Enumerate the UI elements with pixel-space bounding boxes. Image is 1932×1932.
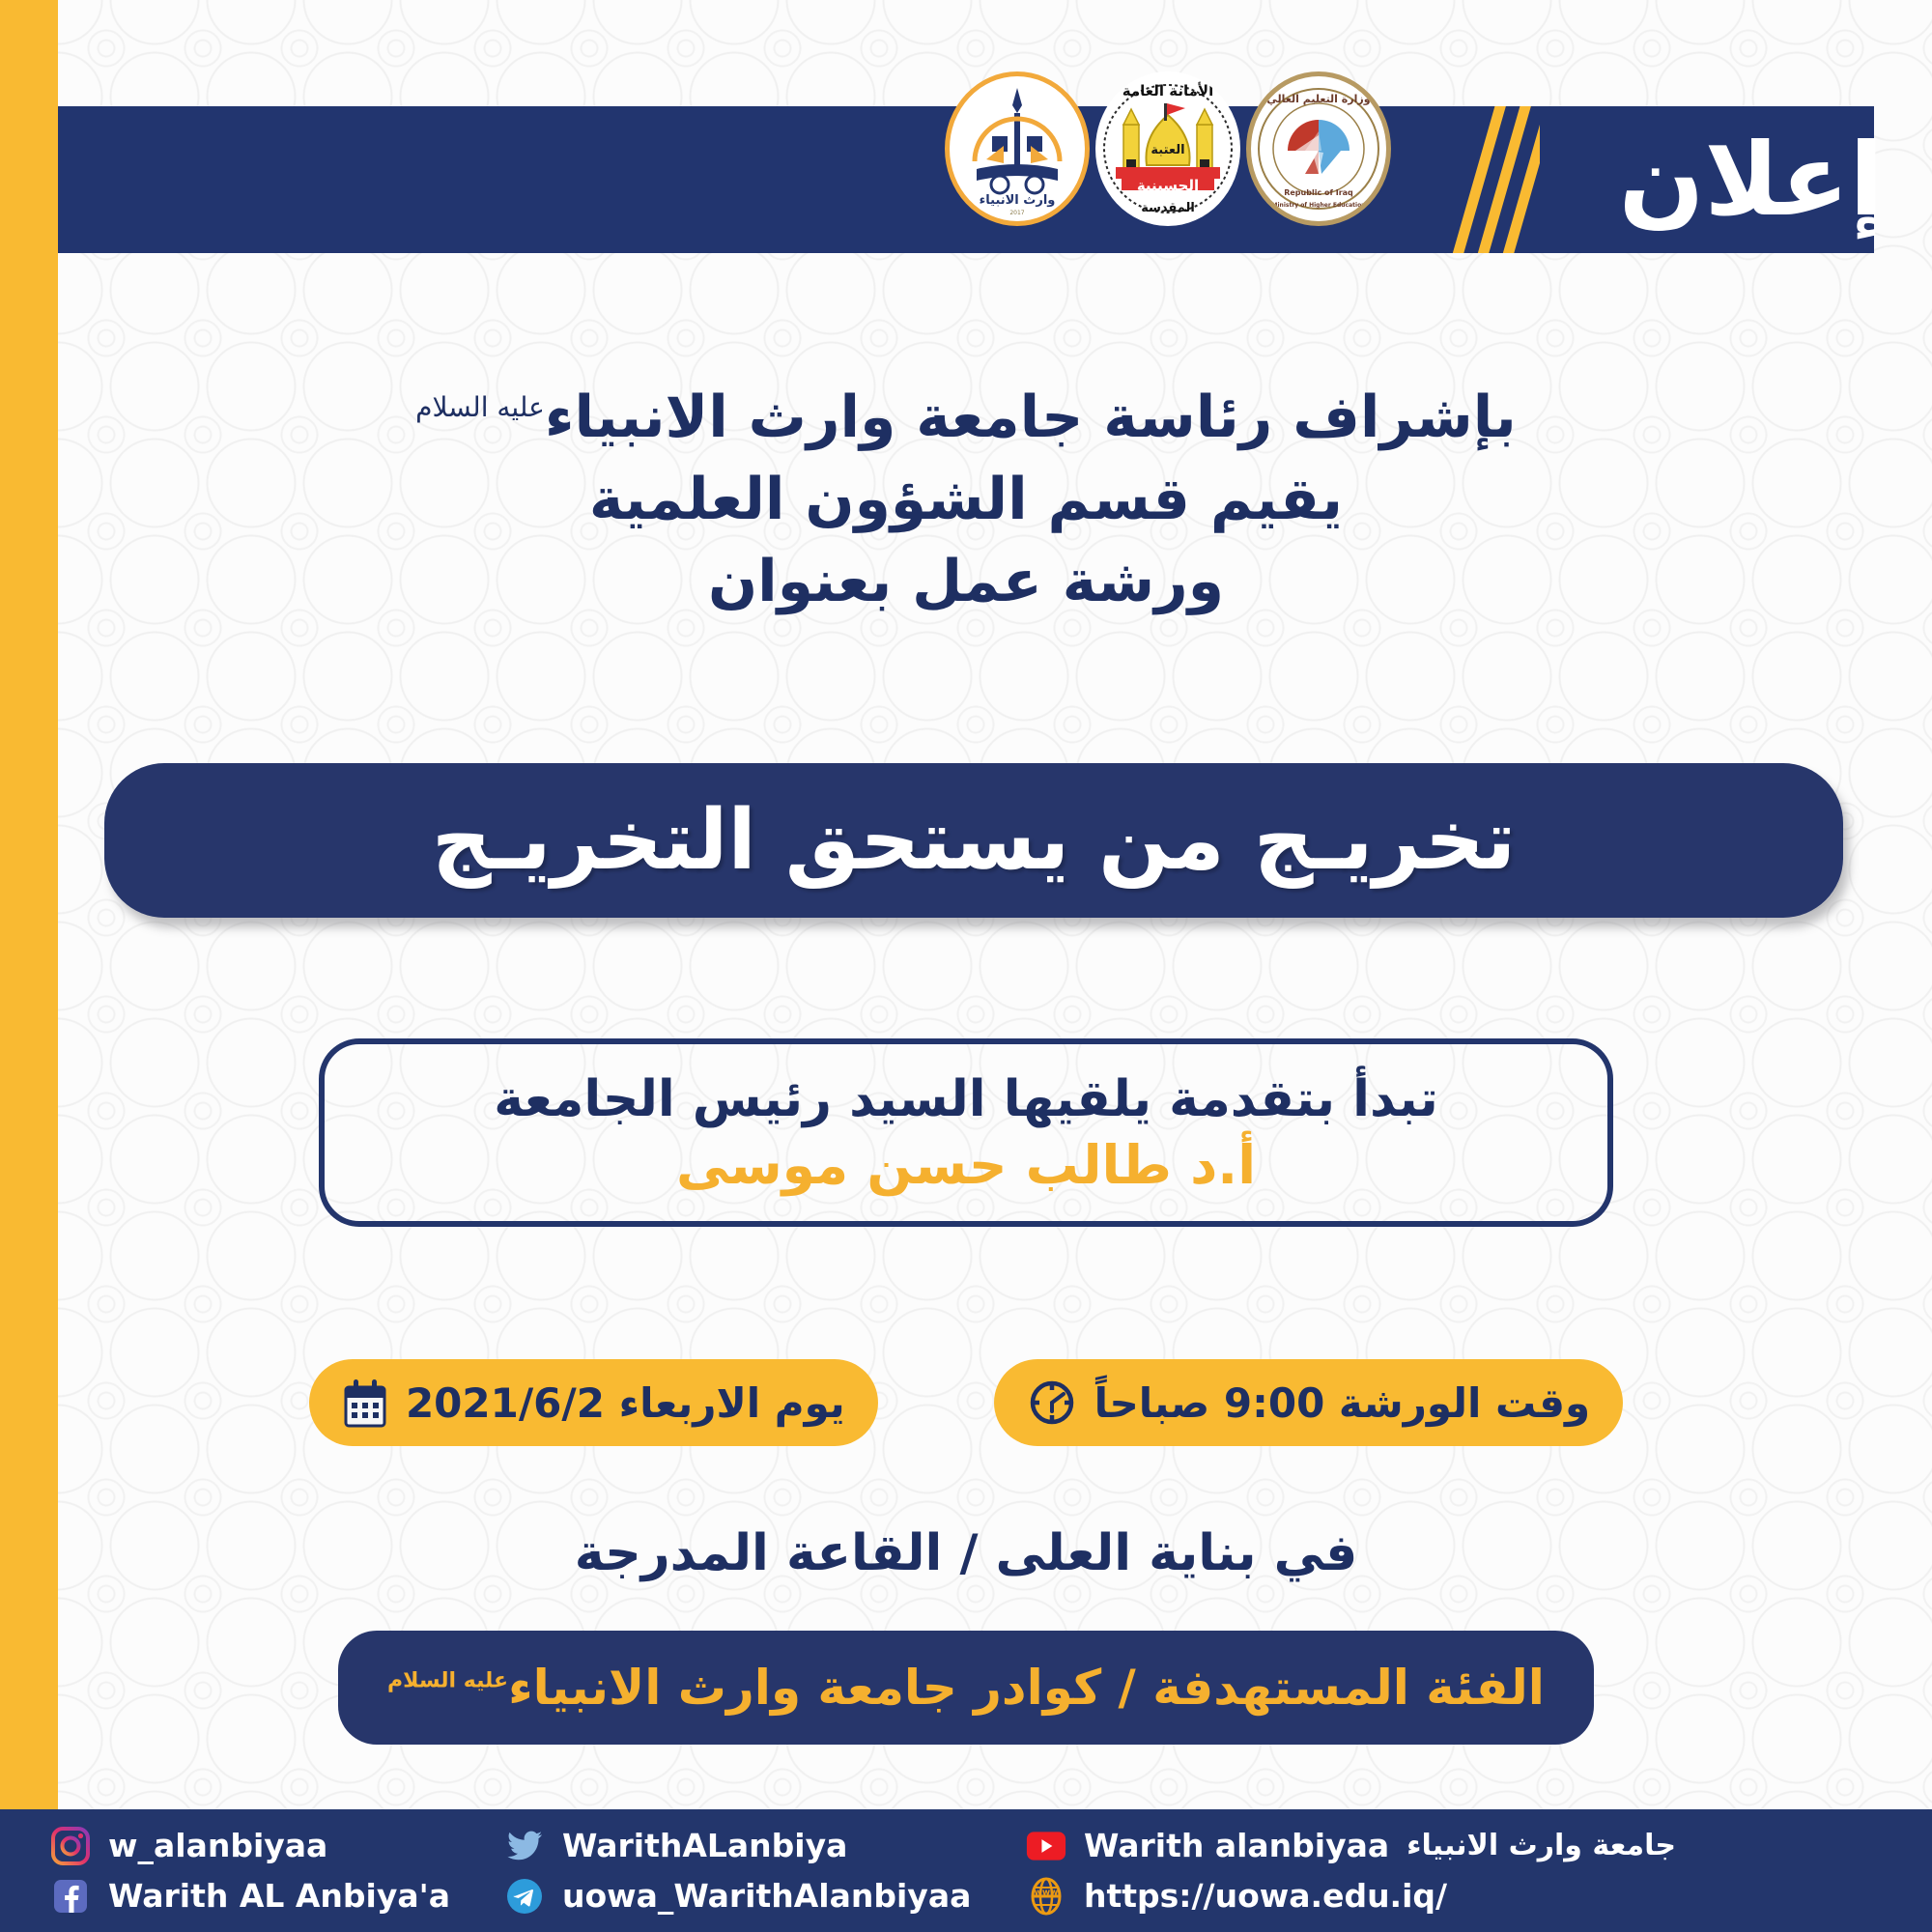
left-gold-accent-strip (0, 0, 58, 1809)
svg-text:www: www (1035, 1888, 1059, 1897)
telegram-row[interactable]: uowa_WarithAlanbiyaa (504, 1876, 1026, 1917)
event-meta-badges: وقت الورشة 9:00 صباحاً يوم الاربعاء 2021… (0, 1356, 1932, 1449)
svg-text:2017: 2017 (1009, 210, 1024, 216)
salutation-honorific: عليه السلام (415, 391, 545, 423)
website-url: https://uowa.edu.iq/ (1084, 1877, 1447, 1915)
twitter-handle: WarithALanbiya (562, 1827, 847, 1864)
telegram-icon (504, 1876, 545, 1917)
announcement-label: إعلان (1619, 129, 1884, 230)
footer-column-1: w_alanbiyaa Warith AL Anbiya'a (50, 1809, 504, 1932)
twitter-row[interactable]: WarithALanbiya (504, 1826, 1026, 1866)
date-badge: يوم الاربعاء 2021/6/2 (309, 1359, 878, 1446)
website-row[interactable]: www https://uowa.edu.iq/ (1026, 1876, 1676, 1917)
audience-honorific: عليه السلام (387, 1668, 508, 1692)
twitter-icon (504, 1826, 545, 1866)
youtube-handle: Warith alanbiyaa (1084, 1827, 1389, 1864)
speaker-info-box: تبدأ بتقدمة يلقيها السيد رئيس الجامعة أ.… (319, 1038, 1613, 1227)
svg-text:وارث الانبياء: وارث الانبياء (980, 193, 1056, 208)
workshop-title: تخريـج من يستحق التخريـج (432, 792, 1516, 889)
facebook-icon (50, 1876, 91, 1917)
page-title: إعلان (1575, 108, 1884, 251)
intro-line-3: ورشة عمل بعنوان (58, 541, 1874, 623)
intro-line-2: يقيم قسم الشؤون العلمية (58, 459, 1874, 541)
time-badge: وقت الورشة 9:00 صباحاً (994, 1359, 1623, 1446)
university-of-warith-alanbiyaa-logo: وارث الانبياء 2017 (945, 71, 1090, 226)
svg-text:العتبة: العتبة (1151, 143, 1184, 157)
ministry-of-higher-education-iraq-logo: وزارة التعليم العالي Republic of Iraq Mi… (1246, 71, 1391, 226)
facebook-handle: Warith AL Anbiya'a (108, 1877, 450, 1915)
date-badge-text: يوم الاربعاء 2021/6/2 (406, 1379, 845, 1427)
footer-column-3: Warith alanbiyaa جامعة وارث الانبياء www… (1026, 1809, 1676, 1932)
instagram-handle: w_alanbiyaa (108, 1827, 327, 1864)
svg-text:الحسينية: الحسينية (1137, 177, 1199, 194)
venue-text: في بناية العلى / القاعة المدرجة (58, 1524, 1874, 1582)
diagonal-gold-stripes (1434, 106, 1540, 253)
speaker-intro-text: تبدأ بتقدمة يلقيها السيد رئيس الجامعة (494, 1070, 1438, 1128)
target-audience-banner: الفئة المستهدفة / كوادر جامعة وارث الانب… (338, 1631, 1594, 1745)
intro-line-1-text: بإشراف رئاسة جامعة وارث الانبياء (545, 384, 1517, 451)
intro-text-block: بإشراف رئاسة جامعة وارث الانبياءعليه الس… (58, 377, 1874, 624)
telegram-handle: uowa_WarithAlanbiyaa (562, 1877, 971, 1915)
target-audience-text: الفئة المستهدفة / كوادر جامعة وارث الانب… (387, 1660, 1545, 1716)
announcement-poster: إعلان وارث الانبياء 2017 (0, 0, 1932, 1932)
youtube-handle-arabic: جامعة وارث الانبياء (1406, 1829, 1676, 1862)
youtube-row[interactable]: Warith alanbiyaa جامعة وارث الانبياء (1026, 1826, 1676, 1866)
svg-text:Republic of Iraq: Republic of Iraq (1284, 188, 1353, 197)
youtube-icon (1026, 1826, 1066, 1866)
al-ataba-al-husseiniya-logo: الأمانة العامة العتبة الحسينية المقدسة (1095, 71, 1240, 226)
workshop-title-banner: تخريـج من يستحق التخريـج (104, 763, 1843, 918)
clock-icon (1027, 1378, 1077, 1428)
speaker-name: أ.د طالب حسن موسى (676, 1134, 1256, 1196)
footer-column-2: WarithALanbiya uowa_WarithAlanbiyaa (504, 1809, 1026, 1932)
svg-text:المقدسة: المقدسة (1141, 201, 1195, 215)
instagram-icon (50, 1826, 91, 1866)
target-audience-label: الفئة المستهدفة / كوادر جامعة وارث الانب… (508, 1660, 1545, 1716)
time-badge-text: وقت الورشة 9:00 صباحاً (1094, 1379, 1590, 1427)
globe-www-icon: www (1026, 1876, 1066, 1917)
instagram-row[interactable]: w_alanbiyaa (50, 1826, 504, 1866)
intro-line-1: بإشراف رئاسة جامعة وارث الانبياءعليه الس… (58, 377, 1874, 459)
social-media-footer: w_alanbiyaa Warith AL Anbiya'a (0, 1809, 1932, 1932)
facebook-row[interactable]: Warith AL Anbiya'a (50, 1876, 504, 1917)
calendar-icon (342, 1378, 388, 1428)
svg-text:Ministry of Higher Education: Ministry of Higher Education (1272, 202, 1366, 209)
svg-text:وزارة التعليم العالي: وزارة التعليم العالي (1266, 93, 1370, 105)
logo-group: وارث الانبياء 2017 الأمانة العامة العتبة (945, 71, 1391, 226)
svg-text:الأمانة العامة: الأمانة العامة (1122, 82, 1213, 99)
